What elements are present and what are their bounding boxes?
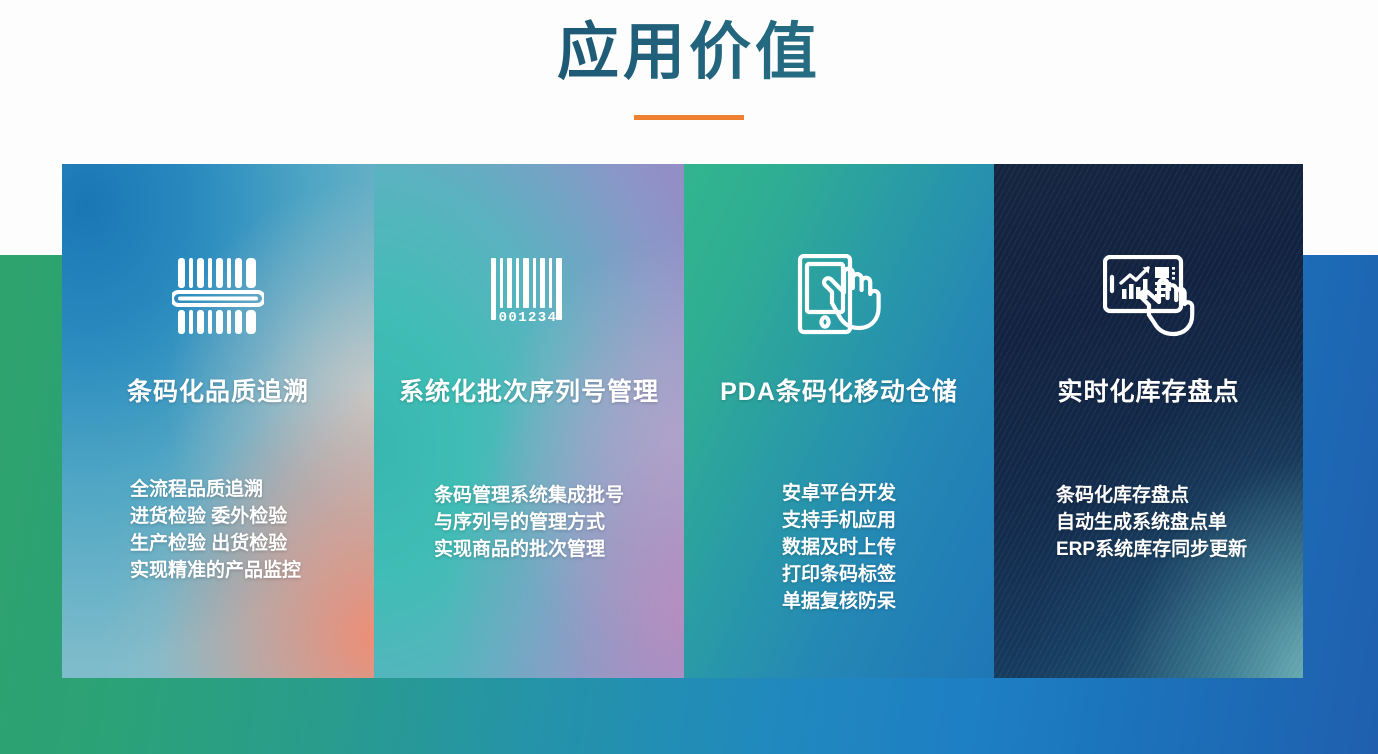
value-card-realtime-inventory-count[interactable]: 实时化库存盘点 条码化库存盘点 自动生成系统盘点单 ERP系统库存同步更新 <box>994 164 1303 678</box>
card-body-line: 进货检验 委外检验 <box>130 503 328 530</box>
card-body-line: 自动生成系统盘点单 <box>1056 509 1257 536</box>
title-underline-rule <box>634 115 744 120</box>
card-body: 全流程品质追溯 进货检验 委外检验 生产检验 出货检验 实现精准的产品监控 <box>62 476 374 584</box>
page-root: 应用价值 <box>0 0 1378 754</box>
card-body-line: ERP系统库存同步更新 <box>1056 536 1257 563</box>
card-body-line: 实现商品的批次管理 <box>434 536 624 563</box>
card-body-line: 与序列号的管理方式 <box>434 509 624 536</box>
barcode-scanner-icon <box>62 248 374 344</box>
card-body: 条码化库存盘点 自动生成系统盘点单 ERP系统库存同步更新 <box>994 482 1303 563</box>
card-body-line: 单据复核防呆 <box>782 588 896 615</box>
card-body-line: 条码管理系统集成批号 <box>434 482 624 509</box>
card-body: 条码管理系统集成批号 与序列号的管理方式 实现商品的批次管理 <box>374 482 684 563</box>
tablet-dashboard-touch-icon <box>994 248 1303 344</box>
card-body-line: 全流程品质追溯 <box>130 476 328 503</box>
card-body-line: 打印条码标签 <box>782 561 896 588</box>
barcode-number-caption: 001234 <box>499 310 558 326</box>
value-card-batch-serial-management[interactable]: 001234 系统化批次序列号管理 条码管理系统集成批号 与序列号的管理方式 实… <box>374 164 684 678</box>
card-body: 安卓平台开发 支持手机应用 数据及时上传 打印条码标签 单据复核防呆 <box>684 480 994 615</box>
tablet-touch-icon <box>684 248 994 344</box>
barcode-label-icon: 001234 <box>374 248 684 344</box>
card-body-line: 支持手机应用 <box>782 507 896 534</box>
card-body-line: 数据及时上传 <box>782 534 896 561</box>
card-title: 系统化批次序列号管理 <box>374 372 684 408</box>
card-body-line: 生产检验 出货检验 <box>130 530 328 557</box>
page-header: 应用价值 <box>0 0 1378 164</box>
value-card-pda-mobile-warehouse[interactable]: PDA条码化移动仓储 安卓平台开发 支持手机应用 数据及时上传 打印条码标签 单… <box>684 164 994 678</box>
card-title: 实时化库存盘点 <box>994 372 1303 408</box>
card-title: PDA条码化移动仓储 <box>684 372 994 408</box>
card-body-line: 条码化库存盘点 <box>1056 482 1257 509</box>
card-body-line: 安卓平台开发 <box>782 480 896 507</box>
page-title: 应用价值 <box>0 14 1378 92</box>
card-body-line: 实现精准的产品监控 <box>130 557 328 584</box>
value-card-barcode-quality-trace[interactable]: 条码化品质追溯 全流程品质追溯 进货检验 委外检验 生产检验 出货检验 实现精准… <box>62 164 374 678</box>
value-cards-row: 条码化品质追溯 全流程品质追溯 进货检验 委外检验 生产检验 出货检验 实现精准… <box>62 164 1303 678</box>
card-title: 条码化品质追溯 <box>62 372 374 408</box>
